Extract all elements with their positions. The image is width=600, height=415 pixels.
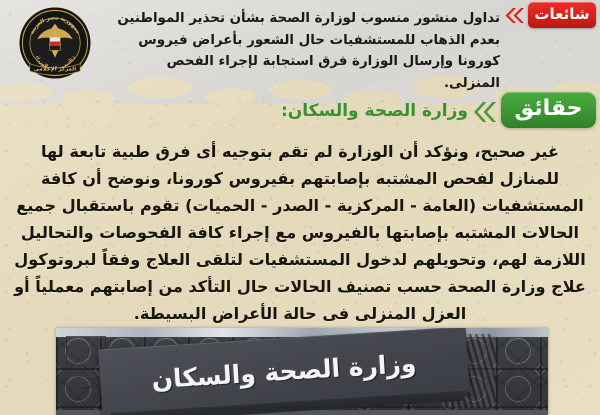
infographic-page: جمهورية مصر العربية رئاسة مجلس الوزراء ا… (0, 0, 600, 415)
ministry-source-heading: وزارة الصحة والسكان: (281, 101, 468, 121)
svg-text:المركز الإعلامى: المركز الإعلامى (34, 65, 76, 72)
fact-body-text: غير صحيح، ونؤكد أن الوزارة لم تقم بتوجيه… (14, 138, 586, 327)
egypt-state-information-service-logo-icon: جمهورية مصر العربية رئاسة مجلس الوزراء ا… (18, 6, 92, 80)
double-chevron-left-icon-red (504, 7, 524, 24)
rumors-badge-label: شائعات (534, 5, 589, 23)
ministry-building-photo: وزارة الصحة والسكان (56, 328, 548, 415)
ministry-signboard-text: وزارة الصحة والسكان (151, 348, 417, 394)
facts-badge-label: حقائق (514, 96, 582, 121)
rumors-badge[interactable]: شائعات (528, 2, 596, 28)
double-chevron-left-icon-green (472, 101, 496, 123)
facts-badge[interactable]: حقائق (501, 92, 596, 128)
rumor-text: تداول منشور منسوب لوزارة الصحة بشأن تحذي… (110, 8, 500, 95)
